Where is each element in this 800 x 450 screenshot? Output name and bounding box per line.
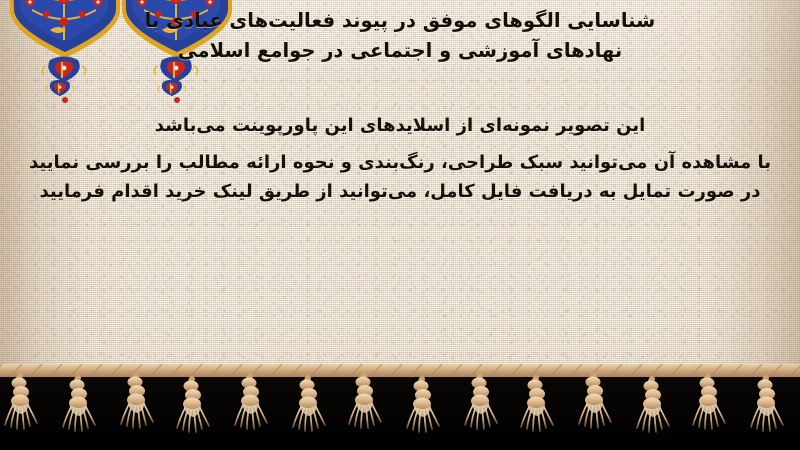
title-line-1: شناسایی الگوهای موفق در پیوند فعالیت‌های…: [14, 6, 786, 36]
slide-title: شناسایی الگوهای موفق در پیوند فعالیت‌های…: [0, 6, 800, 65]
body-line-3: در صورت تمایل به دریافت فایل کامل، می‌تو…: [10, 178, 790, 207]
body-line-2: با مشاهده آن می‌توانید سبک طراحی، رنگ‌بن…: [10, 149, 790, 178]
slide-canvas: شناسایی الگوهای موفق در پیوند فعالیت‌های…: [0, 0, 800, 450]
title-line-2: نهادهای آموزشی و اجتماعی در جوامع اسلامی: [14, 36, 786, 66]
tassel-fringe-border: [0, 370, 800, 450]
slide-body: این تصویر نمونه‌ای از اسلایدهای این پاور…: [0, 112, 800, 206]
body-line-1: این تصویر نمونه‌ای از اسلایدهای این پاور…: [10, 112, 790, 141]
